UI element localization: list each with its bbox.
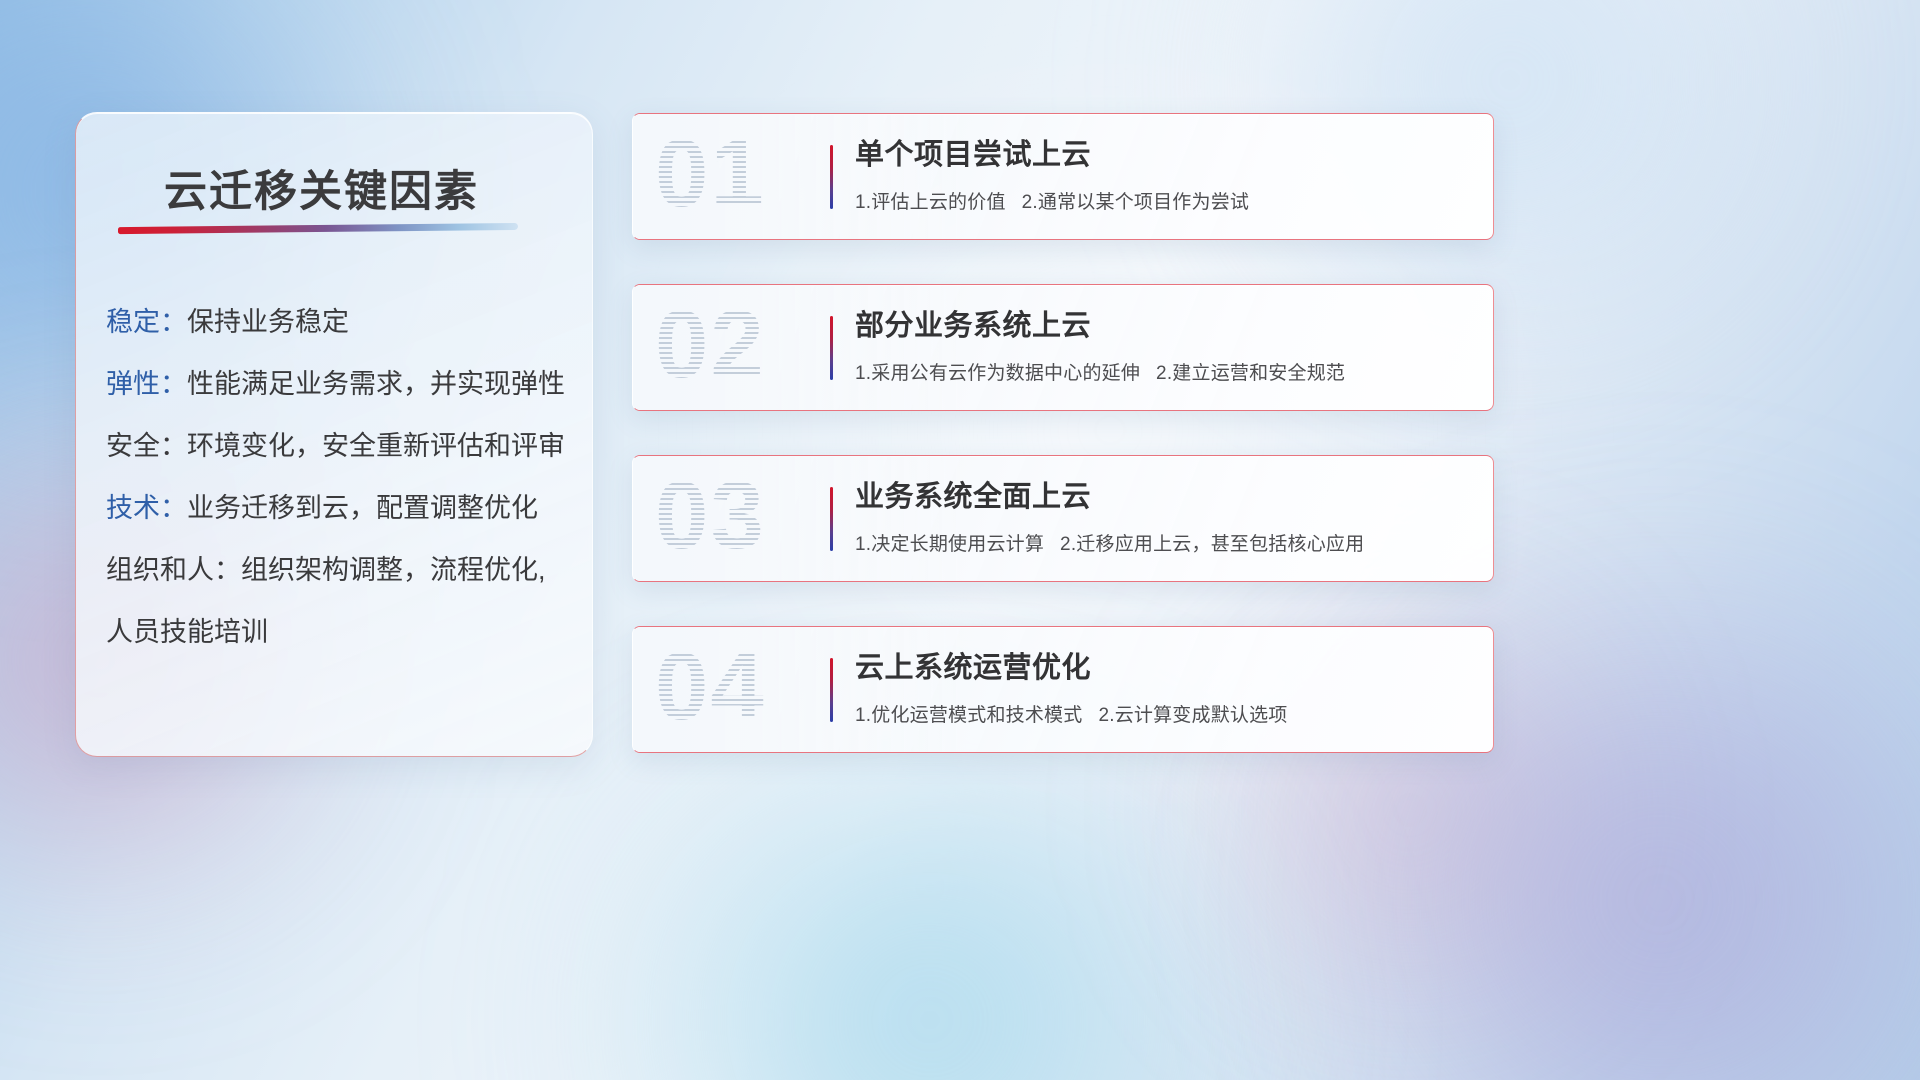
stage-title: 单个项目尝试上云 [855, 138, 1467, 173]
stage-number-04: 04 [655, 639, 766, 735]
stage-card-02[interactable]: 02 部分业务系统上云 1.采用公有云作为数据中心的延伸2.建立运营和安全规范 [632, 284, 1494, 411]
factor-value: 人员技能培训 [106, 619, 268, 646]
stage-description: 1.采用公有云作为数据中心的延伸2.建立运营和安全规范 [855, 358, 1467, 385]
factor-label: 技术： [106, 495, 187, 522]
factor-value: 组织架构调整，流程优化, [241, 557, 546, 584]
key-factors-panel: 云迁移关键因素 稳定： 保持业务稳定 弹性： 性能满足业务需求，并实现弹性 安全… [75, 112, 593, 757]
stage-card-body: 云上系统运营优化 1.优化运营模式和技术模式2.云计算变成默认选项 [855, 651, 1467, 727]
list-item-continuation: 人员技能培训 [106, 619, 576, 646]
stage-description: 1.评估上云的价值2.通常以某个项目作为尝试 [855, 187, 1467, 214]
slide-stage: 云迁移关键因素 稳定： 保持业务稳定 弹性： 性能满足业务需求，并实现弹性 安全… [0, 0, 1920, 1080]
stage-description: 1.优化运营模式和技术模式2.云计算变成默认选项 [855, 700, 1467, 727]
stage-card-body: 单个项目尝试上云 1.评估上云的价值2.通常以某个项目作为尝试 [855, 138, 1467, 214]
stage-card-body: 业务系统全面上云 1.决定长期使用云计算2.迁移应用上云，甚至包括核心应用 [855, 480, 1467, 556]
stage-card-03[interactable]: 03 业务系统全面上云 1.决定长期使用云计算2.迁移应用上云，甚至包括核心应用 [632, 455, 1494, 582]
list-item: 安全： 环境变化，安全重新评估和评审 [106, 433, 576, 460]
factor-value: 业务迁移到云，配置调整优化 [187, 495, 538, 522]
factor-label: 稳定： [106, 309, 187, 336]
title-underline-rule [118, 223, 518, 234]
stage-point-1: 1.决定长期使用云计算 [855, 534, 1044, 555]
list-item: 弹性： 性能满足业务需求，并实现弹性 [106, 371, 576, 398]
factor-value: 性能满足业务需求，并实现弹性 [187, 371, 565, 398]
stage-title: 业务系统全面上云 [855, 480, 1467, 515]
stage-point-2: 2.云计算变成默认选项 [1098, 705, 1287, 726]
stage-card-04[interactable]: 04 云上系统运营优化 1.优化运营模式和技术模式2.云计算变成默认选项 [632, 626, 1494, 753]
stage-divider-icon [830, 316, 833, 380]
stage-title: 云上系统运营优化 [855, 651, 1467, 686]
stage-number-01: 01 [655, 126, 766, 222]
stage-point-1: 1.采用公有云作为数据中心的延伸 [855, 363, 1140, 384]
migration-stages-list: 01 单个项目尝试上云 1.评估上云的价值2.通常以某个项目作为尝试 02 部分… [632, 113, 1494, 797]
stage-point-1: 1.优化运营模式和技术模式 [855, 705, 1082, 726]
list-item: 稳定： 保持业务稳定 [106, 309, 576, 336]
stage-divider-icon [830, 658, 833, 722]
list-item: 技术： 业务迁移到云，配置调整优化 [106, 495, 576, 522]
stage-point-2: 2.通常以某个项目作为尝试 [1022, 192, 1249, 213]
stage-card-01[interactable]: 01 单个项目尝试上云 1.评估上云的价值2.通常以某个项目作为尝试 [632, 113, 1494, 240]
stage-number-02: 02 [655, 297, 766, 393]
stage-divider-icon [830, 145, 833, 209]
factor-label: 安全： [106, 433, 187, 460]
stage-number-03: 03 [655, 468, 766, 564]
page-title: 云迁移关键因素 [164, 157, 479, 219]
factor-value: 环境变化，安全重新评估和评审 [187, 433, 565, 460]
stage-title: 部分业务系统上云 [855, 309, 1467, 344]
key-factors-list: 稳定： 保持业务稳定 弹性： 性能满足业务需求，并实现弹性 安全： 环境变化，安… [106, 309, 576, 681]
stage-description: 1.决定长期使用云计算2.迁移应用上云，甚至包括核心应用 [855, 529, 1467, 556]
factor-label: 弹性： [106, 371, 187, 398]
stage-card-body: 部分业务系统上云 1.采用公有云作为数据中心的延伸2.建立运营和安全规范 [855, 309, 1467, 385]
stage-point-1: 1.评估上云的价值 [855, 192, 1006, 213]
stage-point-2: 2.迁移应用上云，甚至包括核心应用 [1060, 534, 1364, 555]
list-item: 组织和人： 组织架构调整，流程优化, [106, 557, 576, 584]
stage-point-2: 2.建立运营和安全规范 [1156, 363, 1345, 384]
factor-value: 保持业务稳定 [187, 309, 349, 336]
factor-label: 组织和人： [106, 557, 241, 584]
stage-divider-icon [830, 487, 833, 551]
